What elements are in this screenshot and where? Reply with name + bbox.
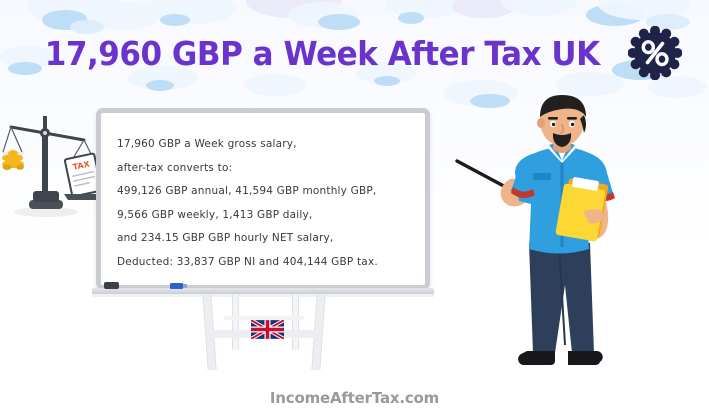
page-title-text: 17,960 GBP a Week After Tax UK	[45, 34, 600, 73]
whiteboard: 17,960 GBP a Week gross salary, after-ta…	[96, 108, 430, 290]
whiteboard-line: Deducted: 33,837 GBP NI and 404,144 GBP …	[117, 251, 425, 275]
whiteboard-tray-shadow	[92, 294, 434, 297]
stand-leg-inner-right	[292, 294, 299, 350]
whiteboard-line: 17,960 GBP a Week gross salary,	[117, 133, 425, 157]
uk-flag-icon	[251, 320, 284, 339]
eraser-icon	[104, 282, 119, 289]
marker-icon	[170, 283, 183, 289]
whiteboard-line: and 234.15 GBP GBP hourly NET salary,	[117, 227, 425, 251]
percent-badge-icon	[628, 26, 682, 80]
page-root: 17,960 GBP a Week After Tax UK	[0, 0, 709, 419]
page-title: 17,960 GBP a Week After Tax UK	[0, 22, 709, 84]
whiteboard-line: 9,566 GBP weekly, 1,413 GBP daily,	[117, 204, 425, 228]
stand-leg-inner-left	[232, 294, 239, 350]
balance-scales-icon: TAX	[2, 112, 106, 220]
whiteboard-line: after-tax converts to:	[117, 157, 425, 181]
whiteboard-line: 499,126 GBP annual, 41,594 GBP monthly G…	[117, 180, 425, 204]
teacher-figure-icon	[455, 95, 670, 380]
site-footer: IncomeAfterTax.com	[0, 389, 709, 407]
whiteboard-content: 17,960 GBP a Week gross salary, after-ta…	[101, 113, 425, 285]
